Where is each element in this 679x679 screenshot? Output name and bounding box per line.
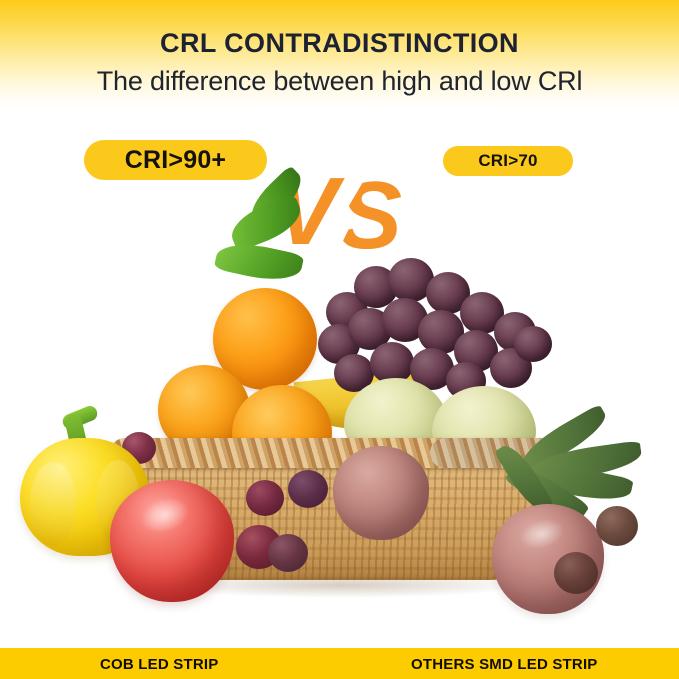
grape-cluster — [318, 258, 554, 394]
page-title: CRL CONTRADISTINCTION — [0, 28, 679, 59]
dull-apple — [333, 446, 429, 540]
purple-grape — [288, 470, 328, 508]
page-subtitle: The difference between high and low CRl — [0, 66, 679, 97]
brown-grape — [554, 552, 598, 594]
purple-grape — [268, 534, 308, 572]
footer-label-cob: COB LED STRIP — [100, 656, 218, 673]
badge-cri-low: CRI>70 — [443, 146, 573, 176]
fruit-scene — [0, 180, 679, 648]
footer-label-smd: OTHERS SMD LED STRIP — [411, 656, 598, 673]
badge-cri-low-label: CRI>70 — [478, 151, 537, 171]
brown-grape — [596, 506, 638, 546]
promo-image: CRL CONTRADISTINCTION The difference bet… — [0, 0, 679, 679]
badge-cri-high: CRI>90+ — [84, 140, 267, 180]
pepper-highlight — [30, 462, 76, 546]
green-leaf-icon — [214, 237, 305, 286]
badge-cri-high-label: CRI>90+ — [125, 146, 226, 175]
purple-grape — [246, 480, 284, 516]
